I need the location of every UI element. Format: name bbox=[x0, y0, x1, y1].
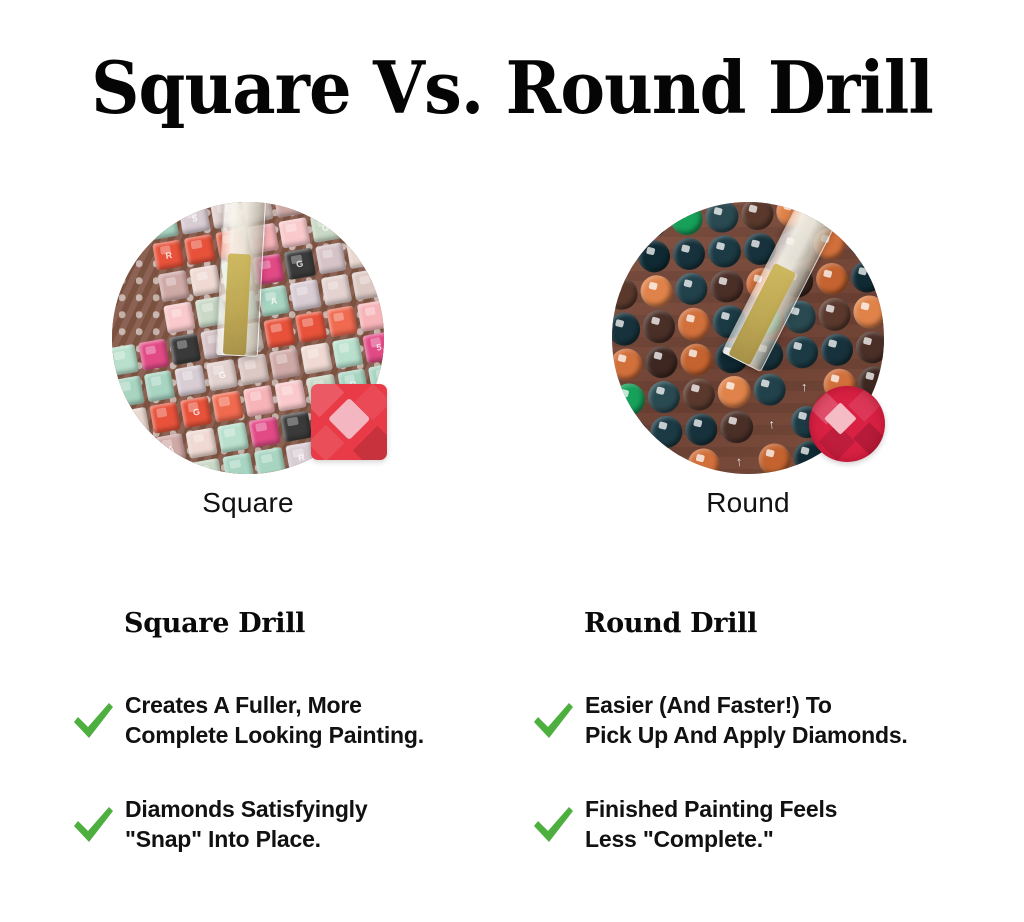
drill-cell: 5 bbox=[362, 330, 384, 365]
drill-cell bbox=[146, 206, 181, 241]
drill-cell bbox=[612, 347, 644, 381]
canvas-symbol: A bbox=[258, 285, 290, 317]
drill-cell bbox=[340, 205, 375, 240]
square-drill bbox=[326, 305, 358, 337]
square-drill bbox=[147, 208, 179, 240]
square-drill bbox=[289, 279, 321, 311]
round-drill bbox=[707, 234, 741, 268]
round-drill bbox=[852, 295, 884, 329]
square-drill bbox=[272, 202, 304, 218]
square-drill: 5 bbox=[178, 202, 210, 234]
drill-cell bbox=[880, 202, 884, 221]
drill-cell bbox=[847, 225, 881, 259]
drill-cell bbox=[293, 310, 328, 345]
round-drill bbox=[845, 202, 879, 224]
round-drill bbox=[640, 274, 674, 308]
square-drill bbox=[169, 333, 201, 365]
round-drill bbox=[632, 202, 666, 204]
drill-cell bbox=[652, 450, 686, 474]
canvas-symbol: 5 bbox=[127, 276, 159, 308]
round-drill bbox=[612, 242, 636, 276]
list-item: Easier (And Faster!) To Pick Up And Appl… bbox=[530, 690, 970, 766]
drill-cell bbox=[612, 454, 616, 474]
drill-cell: G bbox=[179, 394, 214, 429]
drill-cell bbox=[672, 237, 706, 271]
round-drill bbox=[612, 419, 614, 453]
drill-cell: G bbox=[205, 358, 240, 393]
round-drill bbox=[847, 225, 881, 259]
square-drill bbox=[149, 401, 181, 433]
list-item-label: Creates A Fuller, More Complete Looking … bbox=[125, 692, 424, 748]
round-drill bbox=[612, 312, 641, 346]
drill-cell bbox=[740, 202, 774, 231]
square-drill bbox=[184, 233, 216, 265]
drill-cell bbox=[612, 312, 641, 346]
square-drill bbox=[278, 217, 310, 249]
square-drill bbox=[138, 338, 170, 370]
square-drill bbox=[352, 268, 384, 300]
round-drill bbox=[612, 347, 644, 381]
drill-cell: A bbox=[257, 284, 292, 319]
drill-cell bbox=[845, 202, 879, 224]
canvas-symbol: G bbox=[309, 211, 341, 243]
round-drill bbox=[850, 260, 884, 294]
drill-cell bbox=[120, 243, 155, 278]
round-drill bbox=[817, 297, 851, 331]
drill-cell bbox=[116, 406, 151, 441]
pen-wax bbox=[222, 253, 250, 355]
drill-cell bbox=[325, 304, 360, 339]
round-drill bbox=[815, 262, 849, 296]
drill-cell bbox=[277, 216, 312, 251]
drill-cell bbox=[142, 369, 177, 404]
drill-cell bbox=[162, 300, 197, 335]
square-drill bbox=[372, 202, 384, 232]
gem-rim bbox=[809, 386, 885, 462]
round-drill bbox=[740, 202, 774, 231]
round-drill bbox=[864, 470, 884, 474]
drill-cell bbox=[112, 343, 140, 378]
heading-round-drill: Round Drill bbox=[584, 608, 757, 639]
drill-cell: R bbox=[112, 311, 134, 346]
canvas-symbol: 5 bbox=[178, 202, 210, 234]
round-drill bbox=[617, 452, 651, 474]
drill-cell bbox=[710, 270, 744, 304]
square-drill bbox=[217, 421, 249, 453]
square-drill bbox=[112, 375, 144, 407]
round-drill bbox=[614, 417, 648, 451]
list-item-label: Diamonds Satisfyingly "Snap" Into Place. bbox=[125, 796, 367, 852]
drill-cell bbox=[785, 335, 819, 369]
drill-cell bbox=[188, 264, 223, 299]
square-drill bbox=[346, 237, 378, 269]
drill-cell: ↑ bbox=[787, 370, 821, 404]
drill-cell bbox=[299, 341, 334, 376]
square-drill bbox=[223, 453, 255, 474]
drill-cell bbox=[351, 267, 384, 302]
square-drill bbox=[237, 353, 269, 385]
round-drill bbox=[710, 270, 744, 304]
drill-cell: 5 bbox=[126, 275, 161, 310]
round-drill bbox=[672, 237, 706, 271]
round-drill bbox=[820, 332, 854, 366]
drill-cell bbox=[852, 295, 884, 329]
round-drill bbox=[647, 380, 681, 414]
square-drill bbox=[274, 379, 306, 411]
drill-cell bbox=[183, 232, 218, 267]
round-drill bbox=[652, 450, 686, 474]
drill-cell bbox=[356, 299, 384, 334]
round-drill bbox=[752, 372, 786, 406]
list-item: Diamonds Satisfyingly "Snap" Into Place. bbox=[70, 794, 510, 870]
drill-cell bbox=[642, 309, 676, 343]
drill-cell bbox=[262, 315, 297, 350]
drill-cell bbox=[112, 374, 145, 409]
drill-cell bbox=[640, 274, 674, 308]
round-drill bbox=[644, 344, 678, 378]
drill-cell bbox=[675, 272, 709, 306]
round-drill bbox=[612, 207, 634, 241]
drill-cell bbox=[687, 447, 721, 474]
round-gem-icon bbox=[809, 386, 885, 462]
square-drill bbox=[243, 385, 275, 417]
drill-cell bbox=[221, 452, 256, 474]
drill-cell bbox=[190, 457, 225, 474]
drill-cell bbox=[330, 335, 365, 370]
round-drill bbox=[635, 204, 669, 238]
list-item-label: Easier (And Faster!) To Pick Up And Appl… bbox=[585, 692, 908, 748]
canvas-symbol: 5 bbox=[363, 331, 384, 363]
drill-cell bbox=[817, 297, 851, 331]
square-drill bbox=[186, 427, 218, 459]
drill-cell bbox=[253, 446, 288, 474]
round-drill bbox=[677, 307, 711, 341]
square-gem-icon bbox=[311, 384, 387, 460]
drill-cell: 5 bbox=[177, 202, 212, 235]
drill-cell bbox=[829, 472, 863, 474]
drill-cell bbox=[647, 380, 681, 414]
round-drill bbox=[684, 412, 718, 446]
page-title: Square Vs. Round Drill bbox=[36, 48, 988, 128]
square-drill bbox=[315, 243, 347, 275]
square-drill bbox=[212, 390, 244, 422]
drill-cell bbox=[617, 452, 651, 474]
drill-cell bbox=[882, 222, 884, 256]
drill-cell bbox=[314, 241, 349, 276]
square-drill bbox=[175, 364, 207, 396]
round-drill bbox=[612, 202, 631, 206]
round-drill bbox=[785, 335, 819, 369]
square-drill bbox=[191, 458, 223, 474]
drill-cell bbox=[632, 202, 666, 204]
drill-cell bbox=[168, 332, 203, 367]
drill-cell bbox=[850, 260, 884, 294]
drill-cell bbox=[864, 470, 884, 474]
round-drill bbox=[612, 454, 616, 474]
drill-cell bbox=[273, 378, 308, 413]
applicator-pen-icon bbox=[216, 202, 266, 357]
square-drill bbox=[118, 407, 150, 439]
drill-cell: R bbox=[151, 238, 186, 273]
square-drill bbox=[354, 462, 384, 474]
heading-square-drill: Square Drill bbox=[124, 608, 305, 639]
square-drill bbox=[341, 206, 373, 238]
drill-cell bbox=[174, 363, 209, 398]
check-icon bbox=[70, 698, 116, 744]
drill-cell bbox=[684, 412, 718, 446]
drill-cell bbox=[242, 383, 277, 418]
square-drill bbox=[112, 344, 139, 376]
list-item: Creates A Fuller, More Complete Looking … bbox=[70, 690, 510, 766]
square-drill bbox=[300, 342, 332, 374]
round-drill-bullet-list: Easier (And Faster!) To Pick Up And Appl… bbox=[530, 690, 970, 898]
caption-square: Square bbox=[112, 487, 384, 519]
drill-cell bbox=[637, 239, 671, 273]
check-icon bbox=[70, 802, 116, 848]
drill-cell bbox=[707, 234, 741, 268]
square-drill: 5 bbox=[363, 331, 384, 363]
drill-cell bbox=[279, 409, 314, 444]
drill-cell bbox=[122, 437, 157, 472]
square-drill bbox=[158, 270, 190, 302]
drill-cell bbox=[185, 426, 220, 461]
canvas-symbol: G bbox=[284, 248, 316, 280]
round-drill bbox=[687, 447, 721, 474]
square-drill bbox=[357, 300, 384, 332]
square-drill: G bbox=[180, 396, 212, 428]
drill-cell bbox=[670, 202, 704, 236]
drill-cell: A bbox=[153, 431, 188, 466]
drill-cell bbox=[705, 202, 739, 234]
canvas-symbol: G bbox=[180, 396, 212, 428]
round-drill bbox=[670, 202, 704, 236]
round-drill bbox=[829, 472, 863, 474]
drill-cell bbox=[612, 242, 636, 276]
square-drill bbox=[263, 316, 295, 348]
drill-cell bbox=[682, 377, 716, 411]
drill-cell bbox=[677, 307, 711, 341]
drill-cell bbox=[247, 415, 282, 450]
drill-cell bbox=[612, 419, 614, 453]
square-drill bbox=[164, 302, 196, 334]
square-drill bbox=[248, 416, 280, 448]
drill-cell bbox=[612, 382, 646, 416]
drill-cell: ↑ bbox=[754, 407, 788, 441]
canvas-symbol: A bbox=[154, 433, 186, 465]
drill-cell bbox=[717, 375, 751, 409]
drill-cell bbox=[131, 306, 166, 341]
round-drill bbox=[612, 382, 646, 416]
drill-cell bbox=[236, 352, 271, 387]
drill-cell bbox=[612, 202, 631, 206]
drill-cell: ↑ bbox=[722, 445, 756, 474]
canvas-symbol: R bbox=[153, 239, 185, 271]
drill-cell bbox=[612, 207, 634, 241]
list-item-label: Finished Painting Feels Less "Complete." bbox=[585, 796, 837, 852]
round-drill bbox=[642, 309, 676, 343]
drill-cell bbox=[216, 420, 251, 455]
square-drill bbox=[254, 447, 286, 474]
canvas-symbol: G bbox=[206, 359, 238, 391]
square-drill: G bbox=[309, 211, 341, 243]
square-drill bbox=[143, 370, 175, 402]
drill-cell bbox=[137, 337, 172, 372]
drill-cell bbox=[752, 372, 786, 406]
square-drill bbox=[331, 337, 363, 369]
square-drill bbox=[160, 464, 192, 474]
square-drill bbox=[269, 348, 301, 380]
drill-cell bbox=[757, 442, 791, 474]
drill-cell: G bbox=[308, 210, 343, 245]
round-drill bbox=[682, 377, 716, 411]
drill-cell: G bbox=[282, 247, 317, 282]
round-drill bbox=[717, 375, 751, 409]
caption-round: Round bbox=[612, 487, 884, 519]
drill-cell bbox=[268, 347, 303, 382]
square-drill bbox=[189, 265, 221, 297]
square-drill-bullet-list: Creates A Fuller, More Complete Looking … bbox=[70, 690, 510, 898]
round-drill bbox=[612, 277, 639, 311]
square-drill bbox=[295, 311, 327, 343]
drill-cell bbox=[288, 278, 323, 313]
check-icon bbox=[530, 802, 576, 848]
check-icon bbox=[530, 698, 576, 744]
square-drill bbox=[123, 438, 155, 470]
round-drill bbox=[675, 272, 709, 306]
square-drill bbox=[280, 410, 312, 442]
round-drill bbox=[880, 202, 884, 221]
drill-cell bbox=[157, 269, 192, 304]
drill-cell bbox=[148, 400, 183, 435]
drill-cell bbox=[614, 417, 648, 451]
drill-cell bbox=[210, 389, 245, 424]
square-drill: G bbox=[284, 248, 316, 280]
square-drill: A bbox=[154, 433, 186, 465]
round-drill bbox=[637, 239, 671, 273]
round-drill bbox=[680, 342, 714, 376]
drill-cell bbox=[644, 344, 678, 378]
drill-cell bbox=[115, 212, 150, 247]
drill-cell bbox=[649, 415, 683, 449]
drill-cell bbox=[635, 204, 669, 238]
round-drill bbox=[757, 442, 791, 474]
drill-cell bbox=[319, 273, 354, 308]
list-item: Finished Painting Feels Less "Complete." bbox=[530, 794, 970, 870]
square-drill bbox=[320, 274, 352, 306]
round-drill bbox=[882, 222, 884, 256]
square-drill: G bbox=[206, 359, 238, 391]
square-drill: A bbox=[258, 285, 290, 317]
round-drill bbox=[855, 330, 884, 364]
drill-cell bbox=[820, 332, 854, 366]
canvas-symbol: R bbox=[112, 313, 133, 345]
drill-cell bbox=[815, 262, 849, 296]
drill-cell bbox=[855, 330, 884, 364]
round-drill bbox=[649, 415, 683, 449]
square-drill: R bbox=[153, 239, 185, 271]
drill-cell bbox=[345, 236, 380, 271]
drill-cell bbox=[719, 410, 753, 444]
drill-cell bbox=[612, 277, 639, 311]
round-drill bbox=[705, 202, 739, 234]
round-drill bbox=[719, 410, 753, 444]
drill-cell bbox=[680, 342, 714, 376]
